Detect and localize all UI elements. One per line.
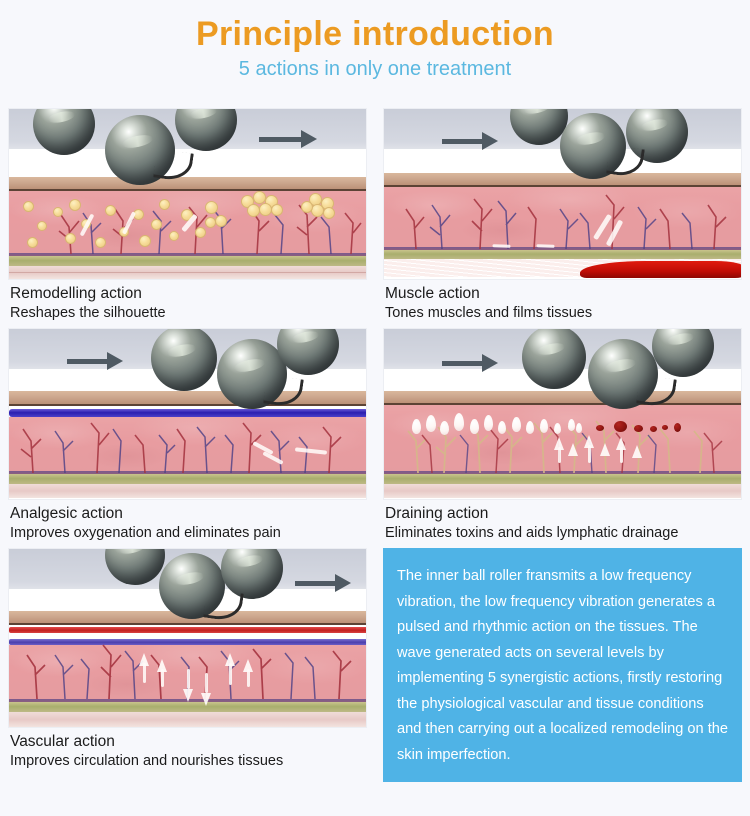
fat-cell-cluster: [323, 207, 335, 219]
panel-row-3: Vascular action Improves circulation and…: [0, 543, 750, 782]
fat-cell: [53, 207, 63, 217]
circulation-arrow-down: [201, 693, 211, 706]
circulation-arrow-shaft: [161, 669, 164, 687]
panel-title: Draining action: [385, 504, 742, 524]
toxin-particle: [674, 423, 681, 432]
circulation-arrow-down: [183, 689, 193, 702]
panel-row-1: Remodelling action Reshapes the silhouet…: [0, 103, 750, 323]
fat-cell-cluster: [301, 201, 313, 213]
panel-subtitle: Improves oxygenation and eliminates pain: [10, 524, 367, 543]
circulation-arrow-shaft: [247, 669, 250, 687]
pressure-arrow: [536, 244, 554, 248]
panel-vascular[interactable]: Vascular action Improves circulation and…: [0, 543, 375, 782]
lymph-droplet: [470, 419, 479, 434]
drainage-arrow-shaft: [558, 447, 561, 463]
caption-remodelling: Remodelling action Reshapes the silhouet…: [8, 280, 367, 323]
toxin-particle: [650, 426, 657, 432]
illustration-remodelling: [8, 108, 367, 280]
fat-cell-cluster: [247, 204, 260, 217]
drainage-arrow: [568, 443, 578, 456]
lymph-droplet: [426, 415, 436, 432]
toxin-particle: [614, 421, 627, 432]
lymph-droplet: [440, 421, 449, 435]
fat-cell-cluster: [271, 204, 283, 216]
fat-cell: [169, 231, 179, 241]
lymph-droplet: [576, 423, 582, 433]
drainage-arrow-shaft: [620, 447, 623, 463]
caption-vascular: Vascular action Improves circulation and…: [8, 728, 367, 771]
panel-title: Vascular action: [10, 732, 367, 752]
lymph-droplet: [526, 421, 534, 434]
fat-cell: [159, 199, 170, 210]
fat-cell: [215, 215, 227, 227]
info-box-text: The inner ball roller fransmits a low fr…: [397, 564, 728, 768]
fat-cell: [151, 219, 162, 230]
illustration-analgesic: [8, 328, 367, 500]
fat-cell: [205, 217, 216, 228]
lymph-droplet: [454, 413, 464, 431]
pressure-arrow: [492, 244, 510, 248]
circulation-arrow-shaft: [187, 669, 190, 689]
drainage-arrow: [632, 445, 642, 458]
panel-subtitle: Improves circulation and nourishes tissu…: [10, 752, 367, 771]
fat-cell: [105, 205, 116, 216]
illustration-draining: [383, 328, 742, 500]
lymph-droplet: [540, 419, 548, 433]
lymph-droplet: [412, 419, 421, 434]
page-title: Principle introduction: [0, 14, 750, 54]
fat-cell: [65, 233, 76, 244]
info-box: The inner ball roller fransmits a low fr…: [383, 548, 742, 782]
fat-cell: [205, 201, 218, 214]
toxin-particle: [596, 425, 604, 431]
panel-subtitle: Tones muscles and films tissues: [385, 304, 742, 323]
panel-draining[interactable]: Draining action Eliminates toxins and ai…: [375, 323, 750, 543]
page-subtitle: 5 actions in only one treatment: [0, 56, 750, 82]
panel-subtitle: Reshapes the silhouette: [10, 304, 367, 323]
panel-subtitle: Eliminates toxins and aids lymphatic dra…: [385, 524, 742, 543]
lymph-droplet: [484, 415, 493, 431]
fat-cell: [139, 235, 151, 247]
fat-cell: [27, 237, 38, 248]
panel-title: Remodelling action: [10, 284, 367, 304]
fat-cell: [69, 199, 81, 211]
panel-muscle[interactable]: Muscle action Tones muscles and films ti…: [375, 103, 750, 323]
panel-row-2: Analgesic action Improves oxygenation an…: [0, 323, 750, 543]
toxin-particle: [634, 425, 643, 432]
caption-analgesic: Analgesic action Improves oxygenation an…: [8, 500, 367, 543]
illustration-muscle: [383, 108, 742, 280]
lymph-droplet: [512, 417, 521, 432]
roller-ball: [522, 328, 586, 389]
circulation-arrow-shaft: [205, 673, 208, 693]
panel-remodelling[interactable]: Remodelling action Reshapes the silhouet…: [0, 103, 375, 323]
fat-cell: [195, 227, 206, 238]
circulation-arrow-shaft: [143, 663, 146, 683]
fat-cell: [95, 237, 106, 248]
lymph-droplet: [568, 419, 575, 431]
toxin-particle: [662, 425, 668, 430]
caption-draining: Draining action Eliminates toxins and ai…: [383, 500, 742, 543]
panel-grid: Remodelling action Reshapes the silhouet…: [0, 103, 750, 782]
panel-title: Analgesic action: [10, 504, 367, 524]
drainage-arrow-shaft: [588, 445, 591, 463]
panel-title: Muscle action: [385, 284, 742, 304]
circulation-arrow-shaft: [229, 663, 232, 685]
panel-info: The inner ball roller fransmits a low fr…: [375, 543, 750, 782]
lymph-droplet: [498, 421, 506, 434]
lymph-droplet: [554, 423, 561, 434]
drainage-arrow: [600, 443, 610, 456]
fat-cell: [23, 201, 34, 212]
panel-analgesic[interactable]: Analgesic action Improves oxygenation an…: [0, 323, 375, 543]
fat-cell: [37, 221, 47, 231]
illustration-vascular: [8, 548, 367, 728]
roller-ball: [151, 328, 217, 391]
caption-muscle: Muscle action Tones muscles and films ti…: [383, 280, 742, 323]
page-header: Principle introduction 5 actions in only…: [0, 0, 750, 82]
